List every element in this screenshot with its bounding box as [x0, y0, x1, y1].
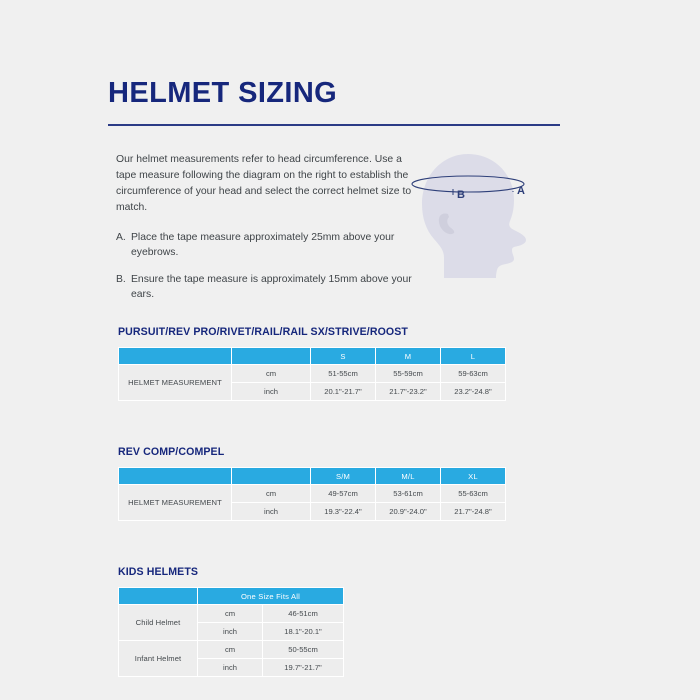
column-header-blank-2 [232, 468, 310, 484]
section-rev-comp: REV COMP/COMPEL S/M M/L XL HELMET MEASUR… [118, 446, 506, 521]
head-silhouette-icon [422, 154, 526, 278]
helmet-sizing-page: HELMET SIZING Our helmet measurements re… [0, 0, 700, 700]
table-header-row: One Size Fits All [119, 588, 343, 604]
table-row: HELMET MEASUREMENT cm 49-57cm 53-61cm 55… [119, 485, 505, 502]
cell-l-cm: 59-63cm [441, 365, 505, 382]
sizing-table-kids: One Size Fits All Child Helmet cm 46-51c… [118, 587, 344, 677]
page-title: HELMET SIZING [108, 78, 560, 108]
column-header-s: S [311, 348, 375, 364]
unit-cm: cm [232, 365, 310, 382]
unit-cm: cm [198, 641, 262, 658]
intro-block: Our helmet measurements refer to head ci… [116, 152, 416, 314]
bullet-text-b: Ensure the tape measure is approximately… [131, 272, 416, 303]
instruction-list: A. Place the tape measure approximately … [116, 230, 416, 303]
column-header-m: M [376, 348, 440, 364]
cell-ml-inch: 20.9"-24.0" [376, 503, 440, 520]
table-row: Infant Helmet cm 50-55cm [119, 641, 343, 658]
bullet-text-a: Place the tape measure approximately 25m… [131, 230, 416, 261]
cell-child-cm: 46-51cm [263, 605, 343, 622]
row-label-helmet-measurement: HELMET MEASUREMENT [119, 365, 231, 400]
cell-xl-inch: 21.7"-24.8" [441, 503, 505, 520]
section-heading: KIDS HELMETS [118, 566, 344, 578]
cell-infant-inch: 19.7"-21.7" [263, 659, 343, 676]
section-heading: REV COMP/COMPEL [118, 446, 506, 458]
column-header-xl: XL [441, 468, 505, 484]
row-label-child-helmet: Child Helmet [119, 605, 197, 640]
bullet-letter-a: A. [116, 230, 131, 261]
cell-l-inch: 23.2"-24.8" [441, 383, 505, 400]
bullet-letter-b: B. [116, 272, 131, 303]
list-item: A. Place the tape measure approximately … [116, 230, 416, 261]
row-label-infant-helmet: Infant Helmet [119, 641, 197, 676]
cell-xl-cm: 55-63cm [441, 485, 505, 502]
table-header-row: S/M M/L XL [119, 468, 505, 484]
column-header-blank [119, 588, 197, 604]
cell-ml-cm: 53-61cm [376, 485, 440, 502]
column-header-sm: S/M [311, 468, 375, 484]
label-a-text: A [517, 185, 525, 197]
list-item: B. Ensure the tape measure is approximat… [116, 272, 416, 303]
label-b-text: B [457, 189, 465, 201]
cell-s-inch: 20.1"-21.7" [311, 383, 375, 400]
title-divider [108, 124, 560, 126]
unit-inch: inch [198, 623, 262, 640]
cell-infant-cm: 50-55cm [263, 641, 343, 658]
cell-m-cm: 55-59cm [376, 365, 440, 382]
section-heading: PURSUIT/REV PRO/RIVET/RAIL/RAIL SX/STRIV… [118, 326, 506, 338]
unit-cm: cm [198, 605, 262, 622]
section-kids-helmets: KIDS HELMETS One Size Fits All Child Hel… [118, 566, 344, 677]
cell-m-inch: 21.7"-23.2" [376, 383, 440, 400]
unit-inch: inch [198, 659, 262, 676]
head-diagram: B A [402, 146, 554, 278]
table-row: Child Helmet cm 46-51cm [119, 605, 343, 622]
unit-inch: inch [232, 503, 310, 520]
row-label-helmet-measurement: HELMET MEASUREMENT [119, 485, 231, 520]
table-header-row: S M L [119, 348, 505, 364]
column-header-one-size-fits-all: One Size Fits All [198, 588, 343, 604]
title-block: HELMET SIZING [108, 78, 560, 126]
column-header-blank-1 [119, 348, 231, 364]
sizing-table-pursuit: S M L HELMET MEASUREMENT cm 51-55cm 55-5… [118, 347, 506, 401]
intro-paragraph: Our helmet measurements refer to head ci… [116, 152, 416, 217]
sizing-table-rev-comp: S/M M/L XL HELMET MEASUREMENT cm 49-57cm… [118, 467, 506, 521]
cell-sm-inch: 19.3"-22.4" [311, 503, 375, 520]
unit-cm: cm [232, 485, 310, 502]
column-header-ml: M/L [376, 468, 440, 484]
cell-sm-cm: 49-57cm [311, 485, 375, 502]
cell-child-inch: 18.1"-20.1" [263, 623, 343, 640]
column-header-l: L [441, 348, 505, 364]
unit-inch: inch [232, 383, 310, 400]
table-row: HELMET MEASUREMENT cm 51-55cm 55-59cm 59… [119, 365, 505, 382]
column-header-blank-1 [119, 468, 231, 484]
cell-s-cm: 51-55cm [311, 365, 375, 382]
section-pursuit: PURSUIT/REV PRO/RIVET/RAIL/RAIL SX/STRIV… [118, 326, 506, 401]
column-header-blank-2 [232, 348, 310, 364]
